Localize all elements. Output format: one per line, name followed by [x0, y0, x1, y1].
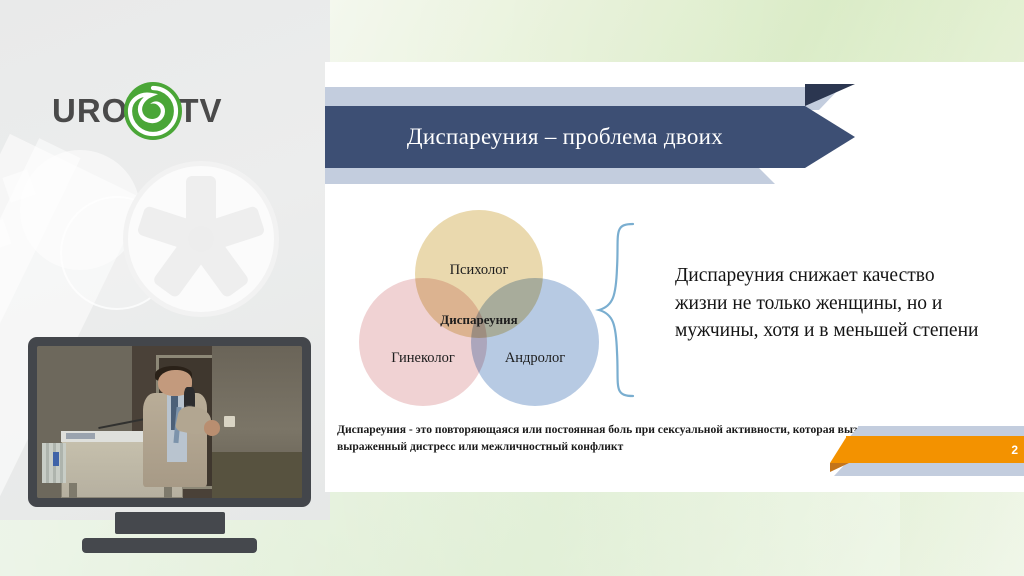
page-title: Диспареуния – проблема двоих — [325, 106, 805, 168]
video-monitor[interactable] — [28, 337, 311, 553]
ribbon-arrow-tip — [805, 106, 855, 168]
monitor-stand-neck — [115, 512, 225, 534]
uro-tv-logo[interactable]: URO TV — [52, 80, 223, 142]
conference-speaker-video — [37, 346, 302, 498]
page-number: 2 — [846, 436, 1018, 463]
venn-label-center: Диспареуния — [399, 312, 559, 328]
callout-text: Диспареуния снижает качество жизни не то… — [675, 262, 985, 345]
venn-diagram: Психолог Гинеколог Андролог Диспареуния — [353, 210, 603, 410]
film-reel-icon — [128, 166, 274, 312]
venn-circle-andrologist — [471, 278, 599, 406]
logo-text-prefix: URO — [52, 92, 128, 130]
venn-circle-gynecologist — [359, 278, 487, 406]
ribbon-fold — [805, 84, 855, 106]
slide-title-ribbon: Диспареуния – проблема двоих — [325, 87, 885, 187]
video-screen[interactable] — [37, 346, 302, 498]
definition-caption: Диспареуния - это повторяющаяся или пост… — [337, 422, 897, 456]
monitor-stand-base — [82, 538, 257, 553]
page-number-arrow: 2 — [830, 426, 1024, 478]
monitor-bezel — [28, 337, 311, 507]
venn-label-psychologist: Психолог — [415, 262, 543, 279]
presentation-slide-frame: URO TV — [0, 0, 1024, 576]
logo-text-suffix: TV — [178, 92, 222, 130]
curly-brace-icon — [593, 220, 641, 400]
uro-tv-swirl-emblem-icon — [122, 80, 184, 142]
venn-label-gynecologist: Гинеколог — [359, 350, 487, 367]
venn-label-andrologist: Андролог — [471, 350, 599, 367]
slide-canvas: Диспареуния – проблема двоих Психолог Ги… — [325, 62, 1024, 492]
